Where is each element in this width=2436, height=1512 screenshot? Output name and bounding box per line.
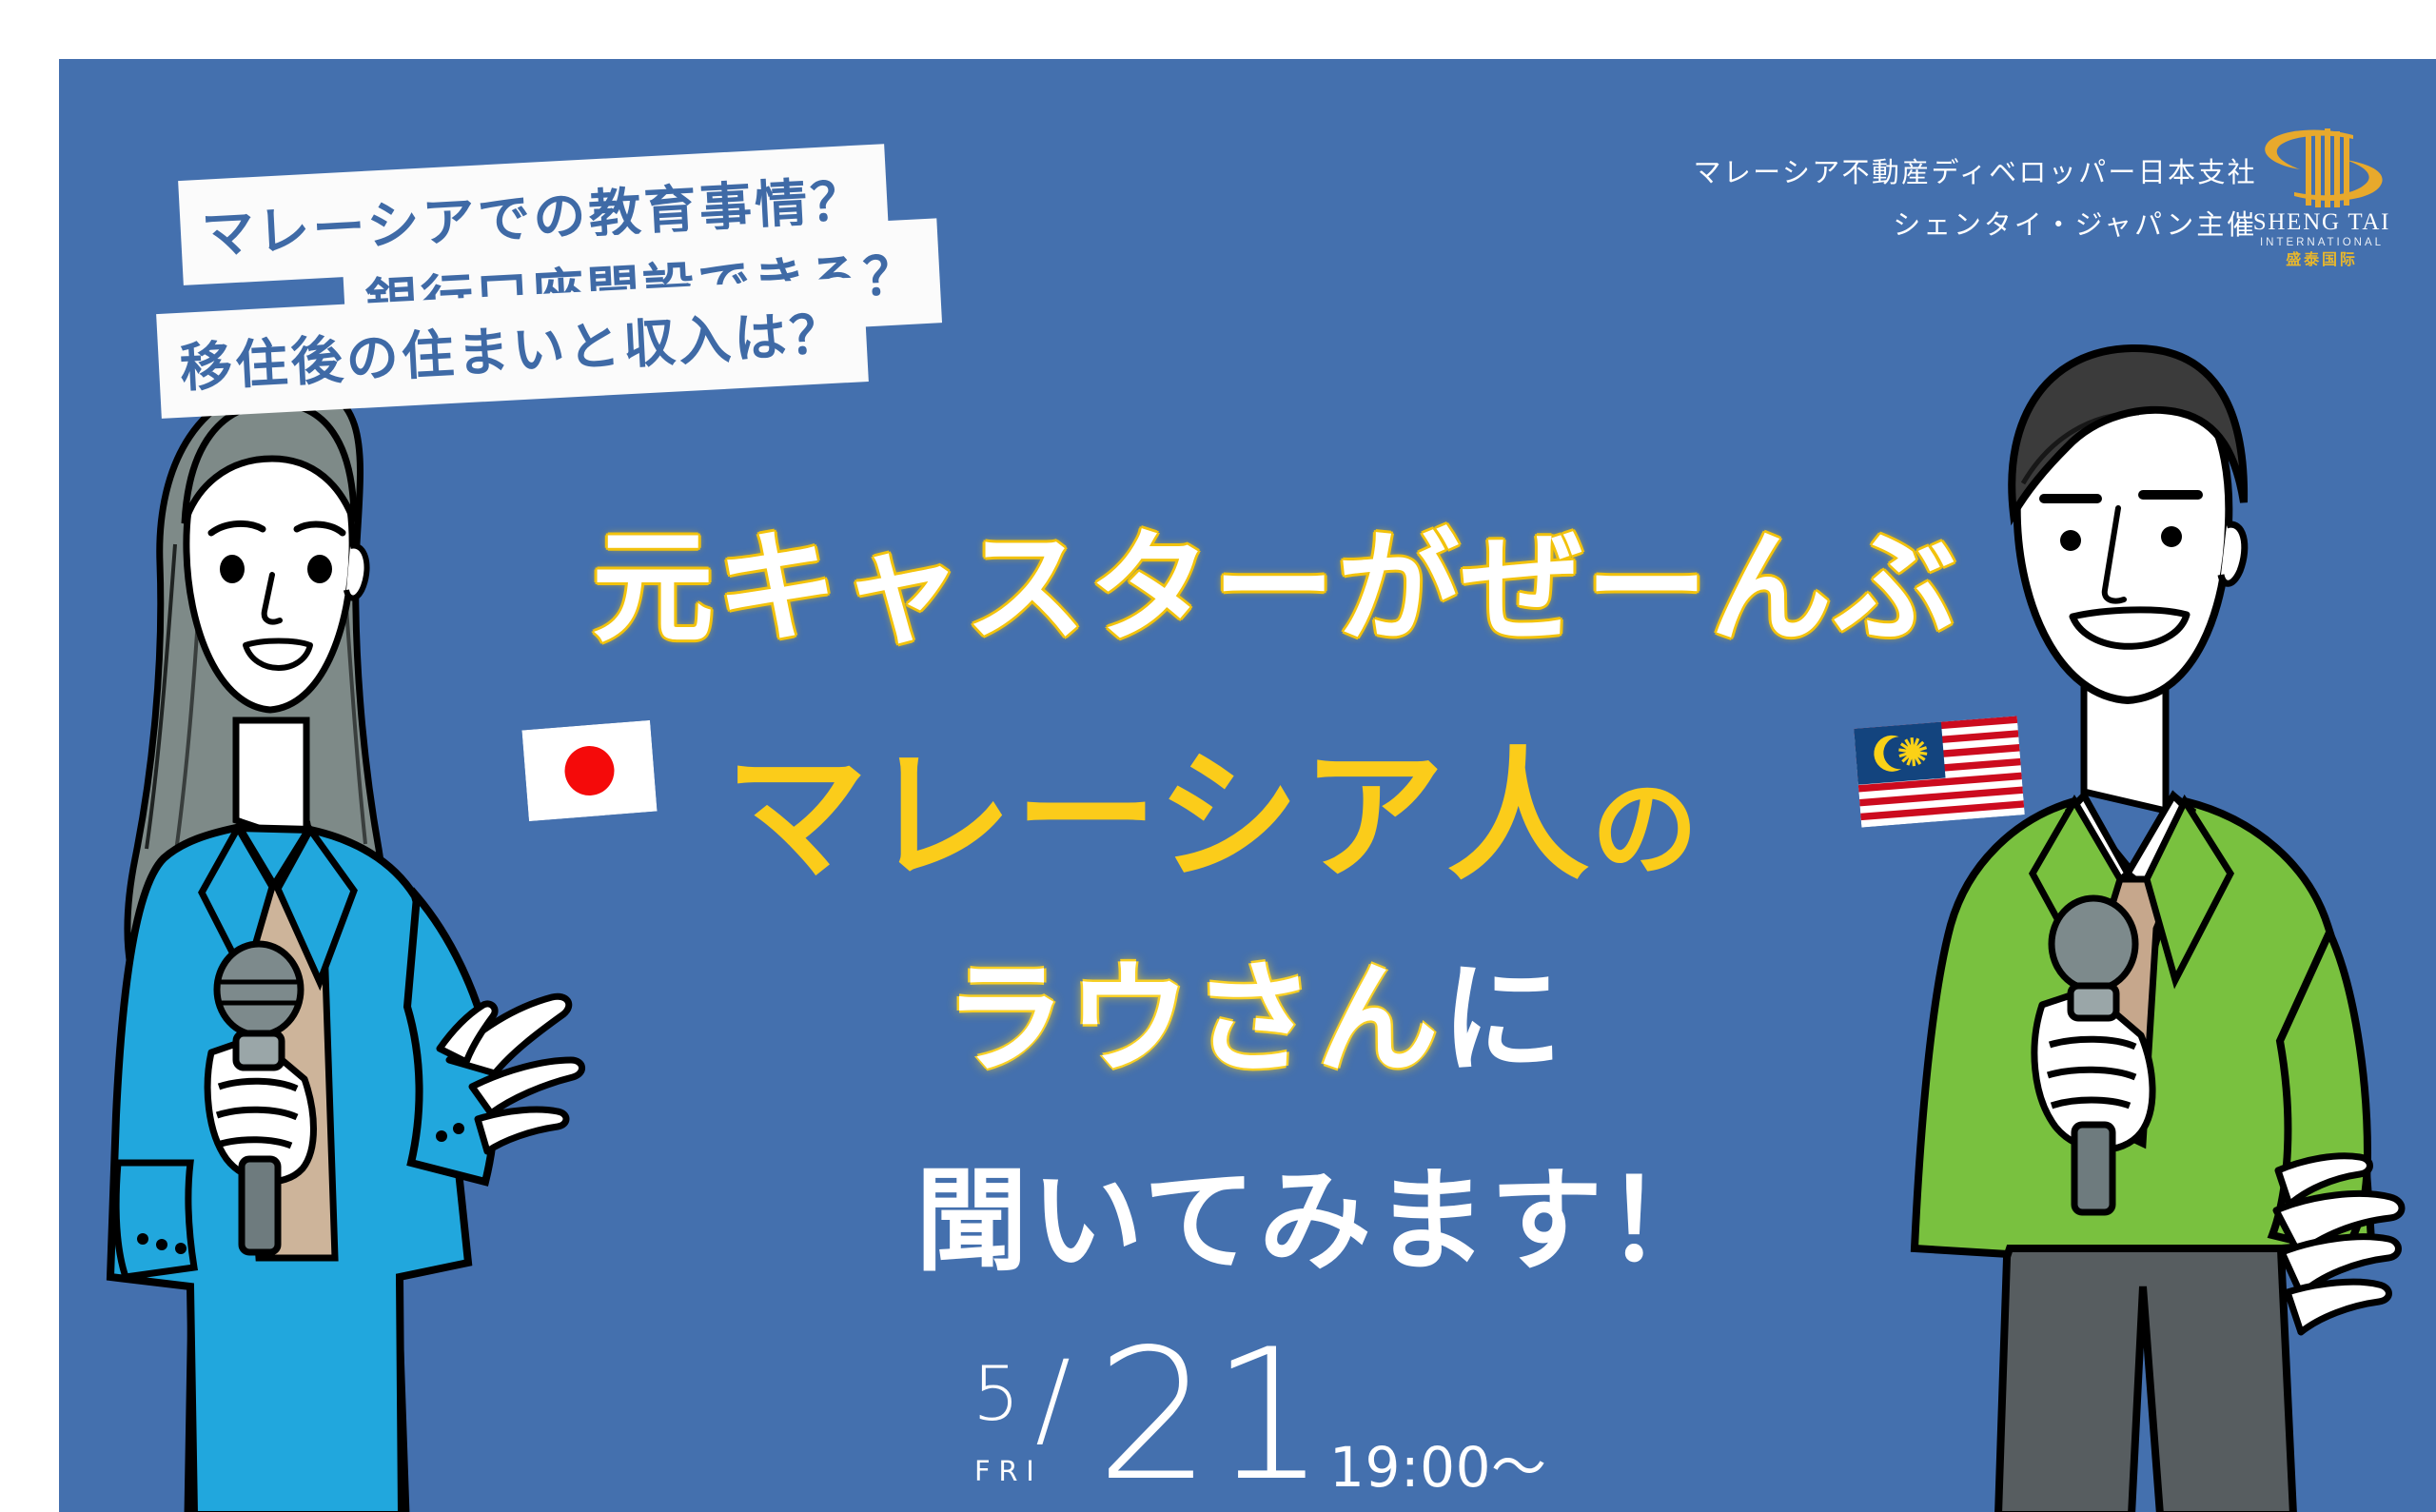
headline-line-1: 元キャスターがぜーんぶ [592,489,1958,665]
date-slash: / [1035,1346,1071,1451]
headline-line-3: ラウさんに [944,920,1565,1096]
headline-line-2-main: マレーシア人 [725,735,1592,900]
logo-subtitle-en: INTERNATIONAL [2250,235,2393,250]
event-month: 5 [972,1358,1020,1432]
question-label-3: 移住後の住まいと収入は？ [156,277,868,419]
headline-line-2-suffix: の [1592,768,1700,892]
headline-line-3-main: ラウさん [944,949,1441,1090]
male-speaker-illustration [1846,297,2436,1512]
organizer-line-1: マレーシア不動産ディベロッパー日本支社 [1694,147,2257,199]
organizer-line-2: シェンタイ・ジャパン主催 [1694,199,2257,251]
malaysia-flag [1854,716,2025,827]
logo-name-en: SHENG TAI [2250,210,2393,235]
sheng-tai-logo-icon [2250,114,2393,214]
organizer-header: マレーシア不動産ディベロッパー日本支社 シェンタイ・ジャパン主催 [1694,147,2257,251]
event-time: 19:00〜20:00 [1329,1423,1547,1512]
headline-line-4: 聞いてみます！ [915,1129,1721,1292]
female-caster-illustration [69,325,601,1512]
poster-canvas: マレーシアでの教育事情？ 銀行口座開設できる？ 移住後の住まいと収入は？ マレー… [0,0,2436,1512]
event-day: 21 [1096,1325,1326,1506]
headline-line-3-suffix: に [1441,949,1565,1090]
headline-line-2: マレーシア人の [725,701,1700,908]
japan-flag [521,720,657,821]
event-weekday: FRI [974,1455,1042,1487]
poster-panel: マレーシアでの教育事情？ 銀行口座開設できる？ 移住後の住まいと収入は？ マレー… [59,59,2436,1512]
logo-name-zh: 盛泰国际 [2250,250,2393,270]
sheng-tai-logo: SHENG TAI INTERNATIONAL 盛泰国际 [2250,114,2393,270]
